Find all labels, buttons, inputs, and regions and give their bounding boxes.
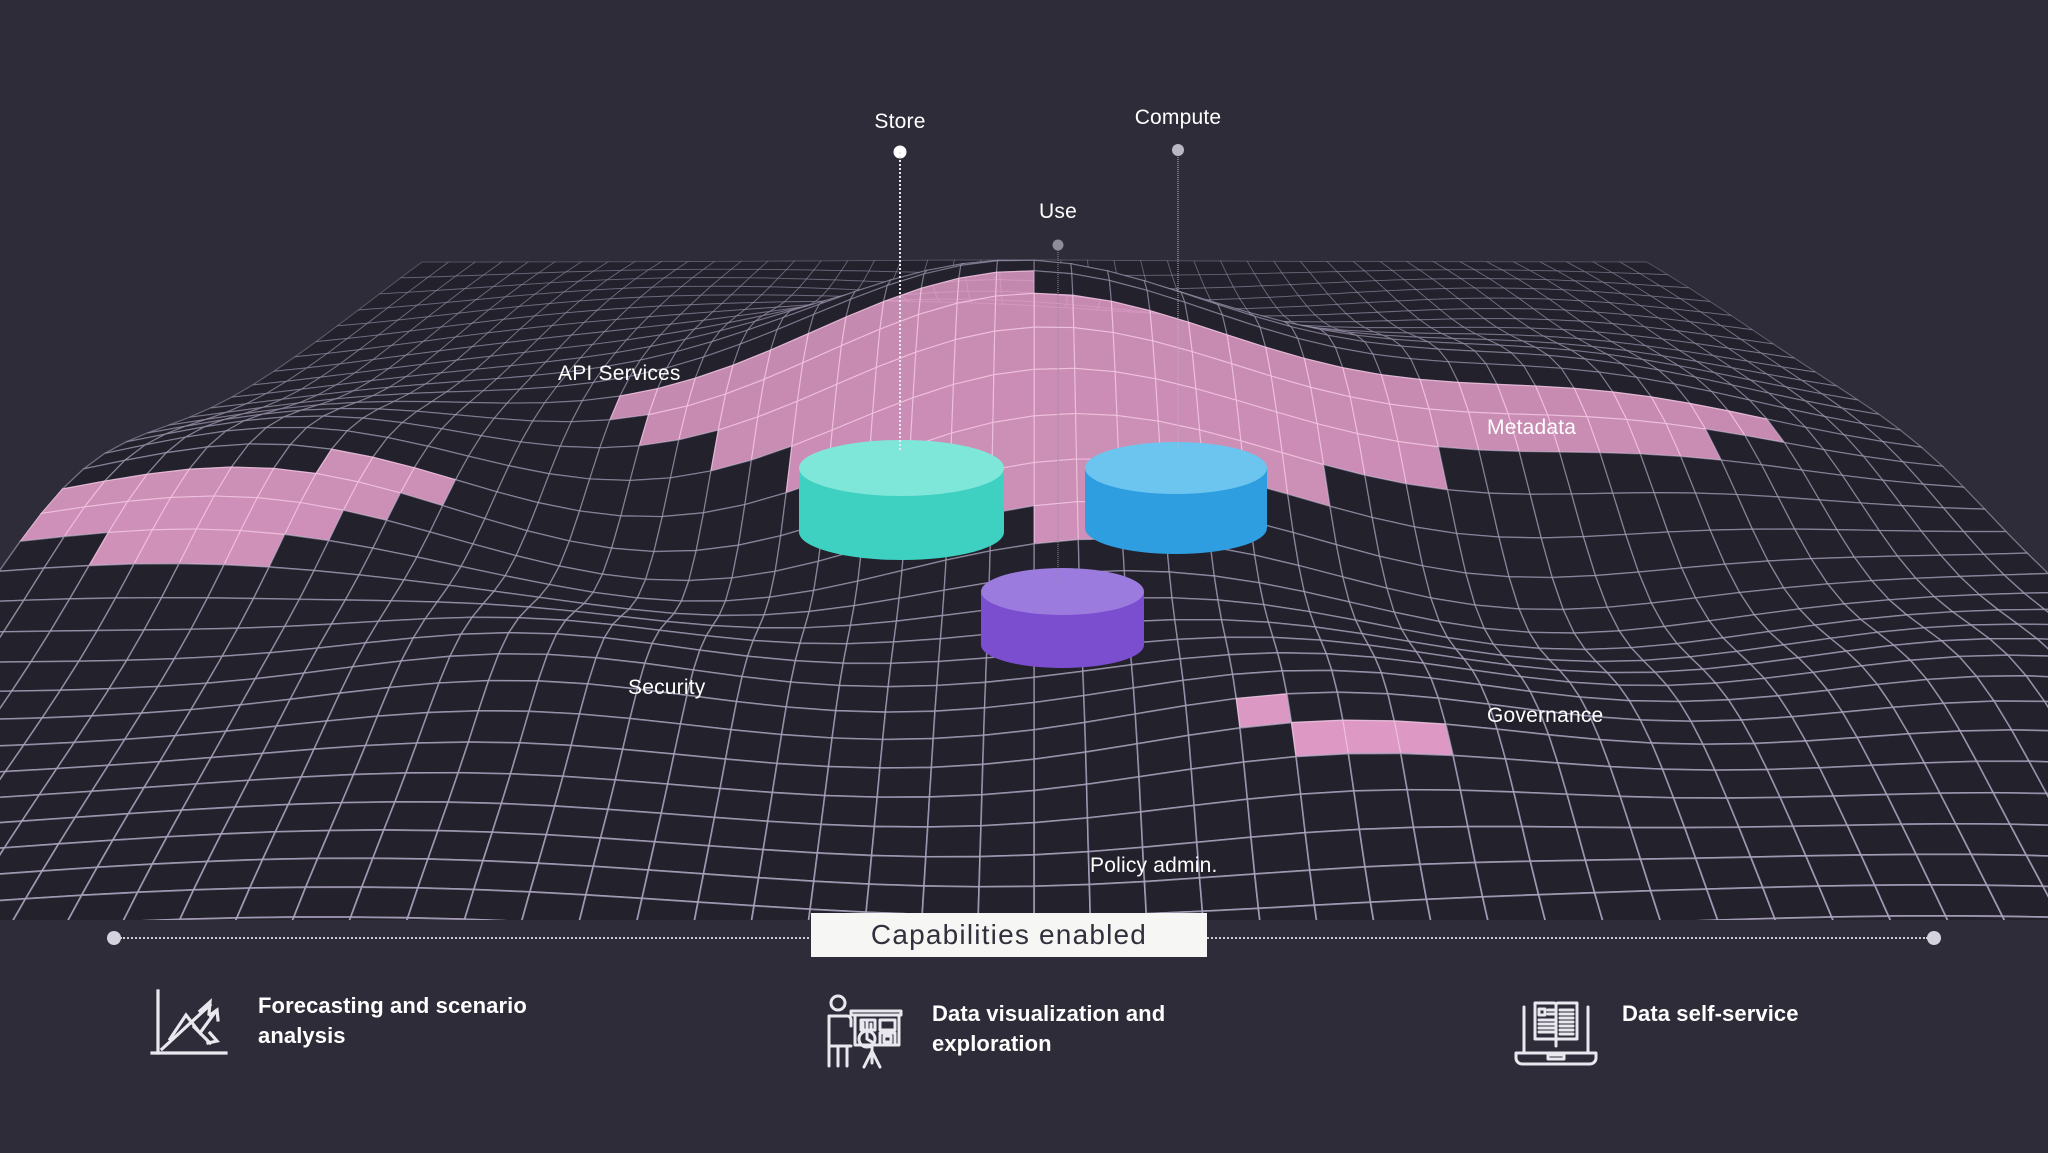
- leader-store: Store: [860, 152, 940, 472]
- surface-label-metadata: Metadata: [1487, 416, 1576, 440]
- leader-use: Use: [1018, 245, 1098, 590]
- capabilities-banner-label: Capabilities enabled: [871, 919, 1147, 951]
- line-chart-arrows-icon: [148, 985, 236, 1063]
- leader-line: [1058, 245, 1059, 585]
- surface-label-api-services: API Services: [558, 362, 681, 386]
- capability-item-self-service: Data self-service: [1512, 993, 1799, 1071]
- divider-dot-left: [107, 931, 121, 945]
- pillar-label-use: Use: [1039, 200, 1077, 224]
- surface-label-security: Security: [628, 676, 705, 700]
- leader-compute: Compute: [1138, 150, 1218, 470]
- leader-line: [1178, 150, 1179, 450]
- capabilities-row: Forecasting and scenario analysis: [0, 975, 2048, 1125]
- capability-item-forecasting: Forecasting and scenario analysis: [148, 985, 548, 1063]
- infographic-canvas: Store Compute Use API Services Security …: [0, 0, 2048, 1153]
- pillar-label-compute: Compute: [1135, 106, 1222, 130]
- surface-label-governance: Governance: [1487, 704, 1603, 728]
- presenter-board-icon: [822, 993, 910, 1071]
- leader-line: [899, 152, 901, 450]
- capability-label: Data visualization and exploration: [932, 993, 1222, 1060]
- capability-item-visualization: Data visualization and exploration: [822, 993, 1222, 1071]
- surface-label-policy-admin: Policy admin.: [1090, 854, 1217, 878]
- capabilities-banner: Capabilities enabled: [811, 913, 1207, 957]
- divider-dot-right: [1927, 931, 1941, 945]
- capability-label: Forecasting and scenario analysis: [258, 985, 548, 1052]
- pillar-label-store: Store: [874, 110, 925, 134]
- capability-label: Data self-service: [1622, 993, 1799, 1029]
- laptop-book-icon: [1512, 993, 1600, 1071]
